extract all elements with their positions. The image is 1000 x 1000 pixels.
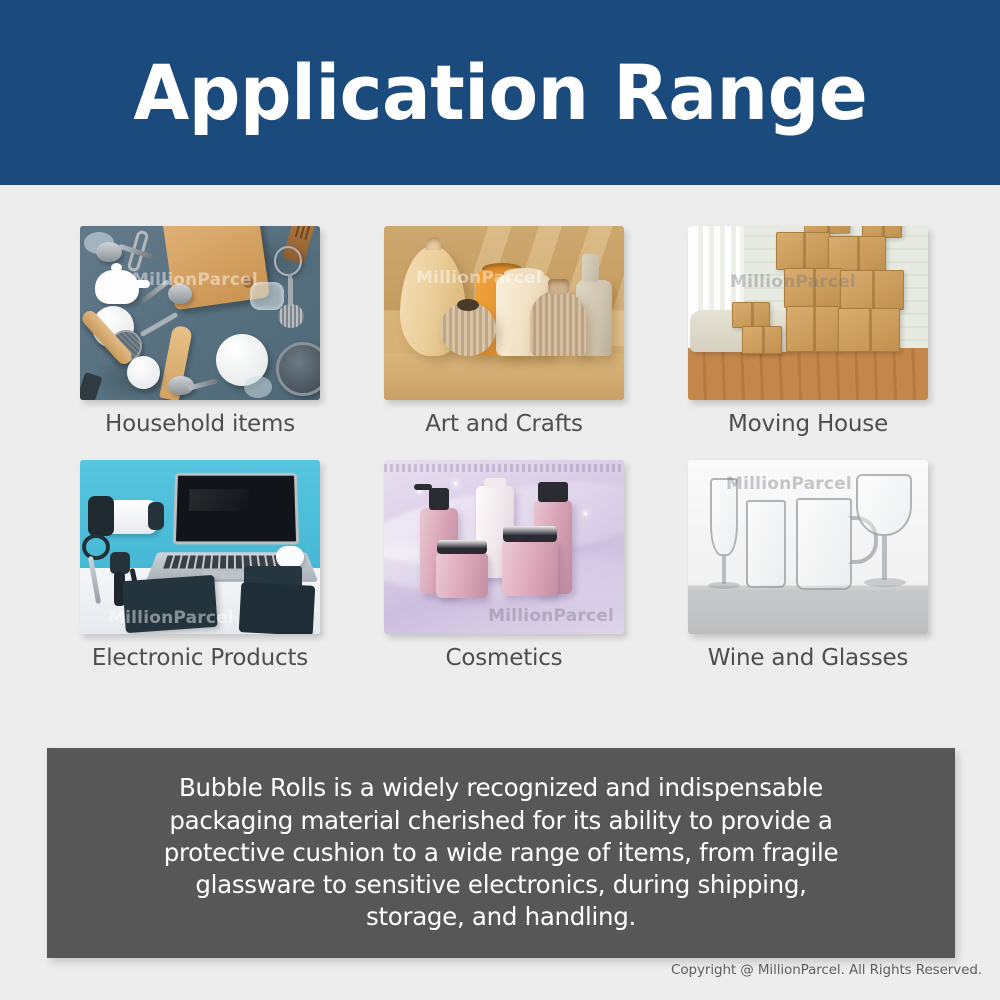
sparkle-icon xyxy=(584,512,587,515)
box-icon xyxy=(742,326,782,354)
vr-headset-icon xyxy=(96,500,158,534)
category-label: Cosmetics xyxy=(384,645,624,671)
champagne-flute-icon xyxy=(710,478,738,556)
laptop-screen-icon xyxy=(173,473,299,545)
table-surface xyxy=(384,354,624,400)
art-and-crafts-image: MillionParcel xyxy=(384,226,624,400)
cosmetics-image: MillionParcel xyxy=(384,460,624,634)
glass-dish-icon xyxy=(250,282,284,310)
box-icon xyxy=(840,270,904,310)
sparkle-icon xyxy=(454,482,457,485)
watermark: MillionParcel xyxy=(488,606,614,626)
tumbler-glass-icon xyxy=(746,500,786,588)
cream-jar-icon xyxy=(502,540,558,596)
category-label: Electronic Products xyxy=(80,645,320,671)
box-icon xyxy=(776,232,830,270)
category-card-cosmetics[interactable]: MillionParcel Cosmetics xyxy=(384,460,624,671)
category-label: Moving House xyxy=(688,411,928,437)
wooden-floor-icon xyxy=(688,348,928,400)
wine-stem xyxy=(882,536,887,580)
saucer-icon xyxy=(127,356,160,389)
earbuds-case-icon xyxy=(276,546,304,568)
box-icon xyxy=(838,308,900,352)
cream-jar-icon xyxy=(436,552,488,598)
wine-and-glasses-image: MillionParcel xyxy=(688,460,928,634)
header-banner: Application Range xyxy=(0,0,1000,185)
category-card-electronic-products[interactable]: MillionParcel Electronic Products xyxy=(80,460,320,671)
category-card-household-items[interactable]: MillionParcel Household items xyxy=(80,226,320,437)
category-label: Art and Crafts xyxy=(384,411,624,437)
category-grid: MillionParcel Household items MillionPar… xyxy=(80,226,928,671)
moving-house-image: MillionParcel xyxy=(688,226,928,400)
sparkle-icon xyxy=(418,490,421,493)
flute-foot xyxy=(708,582,740,589)
reflection-surface xyxy=(688,590,928,634)
box-icon xyxy=(828,236,886,272)
page-title: Application Range xyxy=(133,48,867,137)
watermark: MillionParcel xyxy=(726,474,852,494)
copyright-notice: Copyright @ MillionParcel. All Rights Re… xyxy=(671,962,982,978)
headphone-icon xyxy=(82,534,110,560)
category-card-moving-house[interactable]: MillionParcel Moving House xyxy=(688,226,928,437)
wine-glass-icon xyxy=(856,474,912,536)
category-label: Household items xyxy=(80,411,320,437)
application-range-infographic: Application Range xyxy=(0,0,1000,1000)
ladle-icon xyxy=(96,242,122,262)
description-panel: Bubble Rolls is a widely recognized and … xyxy=(47,748,955,958)
beer-mug-icon xyxy=(796,498,852,590)
smartwatch-icon xyxy=(110,552,130,574)
category-label: Wine and Glasses xyxy=(688,645,928,671)
household-items-image: MillionParcel xyxy=(80,226,320,400)
category-card-wine-and-glasses[interactable]: MillionParcel Wine and Glasses xyxy=(688,460,928,671)
box-icon xyxy=(786,306,840,352)
description-text: Bubble Rolls is a widely recognized and … xyxy=(151,772,851,934)
teapot-icon xyxy=(95,270,139,304)
electronic-products-image: MillionParcel xyxy=(80,460,320,634)
tablet-icon xyxy=(122,575,217,633)
spoon-icon xyxy=(168,376,194,395)
top-caption-strip xyxy=(384,464,624,472)
ribbed-ball-vase-icon xyxy=(440,302,496,356)
masher-icon xyxy=(278,304,304,328)
notebook-icon xyxy=(239,582,316,634)
category-card-art-and-crafts[interactable]: MillionParcel Art and Crafts xyxy=(384,226,624,437)
small-glass-icon xyxy=(244,376,272,398)
wine-foot xyxy=(864,578,906,587)
scoop-icon xyxy=(168,284,192,304)
box-icon xyxy=(784,268,842,308)
ribbed-dome-vase-icon xyxy=(530,290,586,356)
flute-stem xyxy=(722,556,726,584)
whisk-icon xyxy=(274,246,302,276)
box-icon xyxy=(732,302,770,328)
